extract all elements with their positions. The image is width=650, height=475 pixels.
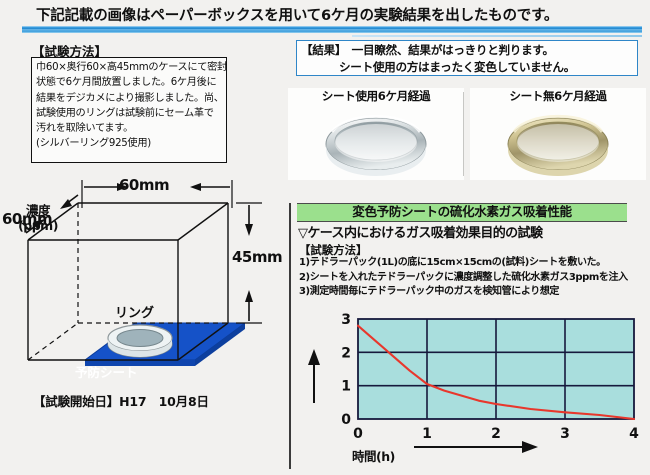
chart-y-axis-arrowhead: [308, 349, 320, 365]
test-method-line: 試験使用のリングは試験前にセーム革で: [36, 106, 223, 121]
y-axis-label-line1: 濃度: [8, 203, 68, 218]
result-line-1: 【結果】 一目瞭然、結果がはっきりと判ります。: [301, 42, 633, 59]
test-method-line: 巾60×奥行60×高45mmのケースにて密封: [36, 60, 223, 75]
chart-x-tick: 1: [422, 426, 432, 442]
dimension-width-label: 60mm: [119, 176, 169, 194]
photo-caption: シート無6ケ月経過: [470, 88, 646, 104]
chart-x-tick: 2: [491, 426, 501, 442]
test-method-line: 結果をデジカメにより撮影しました。尚、: [36, 91, 223, 106]
section-banner: 変色予防シートの硫化水素ガス吸着性能: [297, 203, 627, 222]
gas-absorption-panel: 変色予防シートの硫化水素ガス吸着性能 ▽ケース内におけるガス吸着効果目的の試験 …: [296, 203, 644, 471]
test-method-line: 汚れを取除いてます。: [36, 121, 223, 136]
panel-left-border: [289, 203, 291, 469]
photo-separator: [463, 92, 464, 176]
test-method-line: 状態で6ケ月間放置しました。6ケ月後に: [36, 75, 223, 90]
prevention-sheet-label: 予防シート: [75, 362, 138, 381]
photo-without-sheet: シート無6ケ月経過: [470, 88, 646, 180]
chart-y-tick: 2: [341, 345, 351, 361]
gas-concentration-chart: 012301234: [296, 307, 644, 457]
test-method-box: 巾60×奥行60×高45mmのケースにて密封 状態で6ケ月間放置しました。6ケ月…: [31, 57, 227, 163]
header-divider-secondary: [352, 35, 642, 37]
case-diagram: [0, 168, 290, 393]
step-item: 1)テドラーパック(1L)の底に15cm×15cmの(試料)シートを敷いた。: [299, 256, 628, 271]
ring-label: リング: [115, 302, 154, 321]
chart-x-tick: 4: [629, 426, 639, 442]
dimension-height-label: 45mm: [232, 248, 282, 266]
gas-test-steps: 1)テドラーパック(1L)の底に15cm×15cmの(試料)シートを敷いた。 2…: [299, 256, 628, 300]
ring-in-case: [108, 325, 172, 357]
chart-y-tick: 0: [341, 412, 351, 428]
document-page: 下記記載の画像はペーパーボックスを用いて6ケ月の実験結果を出したものです。 【試…: [0, 0, 650, 475]
photo-caption: シート使用6ケ月経過: [288, 88, 464, 104]
page-title: 下記記載の画像はペーパーボックスを用いて6ケ月の実験結果を出したものです。: [36, 4, 558, 25]
chart-y-tick: 3: [341, 312, 351, 328]
chart-x-tick: 3: [560, 426, 570, 442]
test-start-date: 【試験開始日】H17 10月8日: [33, 391, 209, 410]
section-subtitle: ▽ケース内におけるガス吸着効果目的の試験: [298, 222, 542, 241]
step-item: 3)測定時間毎にテドラーパック中のガスを検知管により想定: [299, 285, 628, 300]
y-axis-label-line2: (ppm): [8, 218, 68, 233]
result-box: 【結果】 一目瞭然、結果がはっきりと判ります。 シート使用の方はまったく変色して…: [296, 40, 638, 76]
photo-with-sheet: シート使用6ケ月経過: [288, 88, 464, 180]
section-banner-text: 変色予防シートの硫化水素ガス吸着性能: [297, 204, 627, 220]
test-method-line: (シルバーリング925使用): [36, 136, 223, 151]
step-item: 2)シートを入れたテドラーパックに濃度調整した硫化水素ガス3ppmを注入: [299, 271, 628, 286]
chart-x-axis-label: 時間(h): [352, 446, 395, 465]
header-divider: [22, 26, 642, 33]
chart-y-axis-label: 濃度 (ppm): [8, 203, 68, 233]
result-line-2: シート使用の方はまったく変色していません。: [301, 59, 633, 76]
chart-y-tick: 1: [341, 379, 351, 395]
chart-x-tick: 0: [353, 426, 363, 442]
chart-x-axis-arrowhead: [522, 441, 538, 453]
